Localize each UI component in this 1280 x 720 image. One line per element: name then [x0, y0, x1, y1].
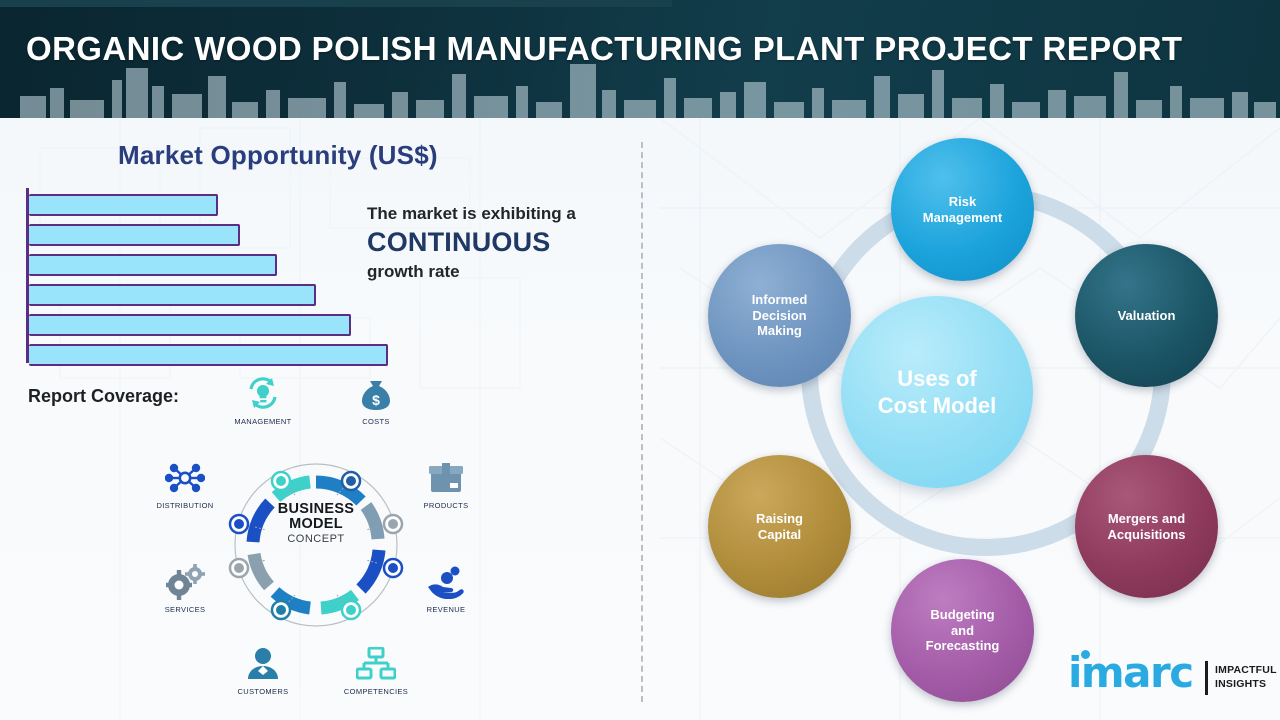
coverage-item-customers: CUSTOMERS: [217, 644, 309, 696]
logo-tagline-line-1: IMPACTFUL: [1215, 664, 1277, 678]
logo-tagline: IMPACTFUL INSIGHTS: [1215, 664, 1277, 691]
blurb-line-1: The market is exhibiting a: [367, 203, 637, 224]
logo-dot-icon: [1081, 650, 1090, 659]
center-bubble-uses-of-cost-model: Uses of Cost Model: [841, 296, 1033, 488]
coverage-label-distribution: DISTRIBUTION: [139, 501, 231, 510]
chart-bar: [29, 254, 277, 276]
bubble-budgeting-forecasting[interactable]: Budgeting and Forecasting: [891, 559, 1034, 702]
coverage-item-competencies: COMPETENCIES: [330, 644, 422, 696]
bubble-line-2: Decision: [752, 308, 808, 324]
user-person-icon: [217, 644, 309, 684]
coverage-label-costs: COSTS: [330, 417, 422, 426]
coverage-item-management: MANAGEMENT: [217, 374, 309, 426]
bm-core-line-2: MODEL: [250, 517, 382, 532]
coverage-label-competencies: COMPETENCIES: [330, 687, 422, 696]
market-blurb: The market is exhibiting a CONTINUOUS gr…: [367, 203, 637, 282]
bubble-line-1: Budgeting: [926, 607, 1000, 623]
blurb-line-3: growth rate: [367, 261, 637, 282]
coverage-label-customers: CUSTOMERS: [217, 687, 309, 696]
bubble-line-1: Mergers and: [1107, 511, 1185, 527]
coverage-label-management: MANAGEMENT: [217, 417, 309, 426]
bubble-line-3: Making: [752, 323, 808, 339]
bubble-line-2: Capital: [756, 527, 803, 543]
center-line-2: Cost Model: [878, 392, 997, 420]
bubble-valuation[interactable]: Valuation: [1075, 244, 1218, 387]
money-bag-icon: $: [330, 374, 422, 414]
coverage-label-revenue: REVENUE: [400, 605, 492, 614]
chart-bar: [29, 284, 316, 306]
cost-model-diagram: Uses of Cost Model Risk Management Valua…: [645, 118, 1280, 720]
org-chart-icon: [330, 644, 422, 684]
box-package-icon: [400, 458, 492, 498]
imarc-logo[interactable]: imarc IMPACTFUL INSIGHTS: [1068, 652, 1274, 708]
bubble-line-1: Valuation: [1118, 308, 1176, 324]
bubble-mergers-acquisitions[interactable]: Mergers and Acquisitions: [1075, 455, 1218, 598]
bubble-raising-capital[interactable]: Raising Capital: [708, 455, 851, 598]
coverage-label-services: SERVICES: [139, 605, 231, 614]
hand-coins-icon: [400, 562, 492, 602]
bm-core-line-1: BUSINESS: [250, 502, 382, 517]
bubble-line-2: Acquisitions: [1107, 527, 1185, 543]
lightbulb-refresh-icon: [217, 374, 309, 414]
logo-tagline-line-2: INSIGHTS: [1215, 678, 1277, 692]
coverage-item-services: SERVICES: [139, 562, 231, 614]
center-line-1: Uses of: [878, 365, 997, 393]
bm-core-line-3: CONCEPT: [250, 534, 382, 546]
coverage-label-products: PRODUCTS: [400, 501, 492, 510]
market-opportunity-title: Market Opportunity (US$): [118, 140, 438, 171]
chart-bar: [29, 344, 388, 366]
bubble-line-2: and: [926, 623, 1000, 639]
page-header: ORGANIC WOOD POLISH MANUFACTURING PLANT …: [0, 0, 1280, 118]
chart-bar: [29, 194, 218, 216]
chart-bar: [29, 314, 351, 336]
blurb-line-2: CONTINUOUS: [367, 224, 637, 260]
market-opportunity-chart: [26, 188, 406, 363]
bubble-line-3: Forecasting: [926, 638, 1000, 654]
header-notch-bar: [0, 0, 672, 7]
coverage-item-costs: $ COSTS: [330, 374, 422, 426]
bubble-line-1: Raising: [756, 511, 803, 527]
coverage-item-products: PRODUCTS: [400, 458, 492, 510]
panel-divider: [641, 142, 643, 702]
network-nodes-icon: [139, 458, 231, 498]
report-coverage-label: Report Coverage:: [28, 386, 179, 407]
business-model-core-label: BUSINESS MODEL CONCEPT: [250, 502, 382, 588]
chart-bar: [29, 224, 240, 246]
bubble-line-1: Risk: [923, 194, 1002, 210]
coverage-item-revenue: REVENUE: [400, 562, 492, 614]
logo-divider-bar: [1205, 661, 1208, 695]
bubble-line-2: Management: [923, 210, 1002, 226]
gears-icon: [139, 562, 231, 602]
bubble-line-1: Informed: [752, 292, 808, 308]
svg-text:$: $: [372, 392, 380, 408]
page-title: ORGANIC WOOD POLISH MANUFACTURING PLANT …: [26, 30, 1182, 68]
bubble-risk-management[interactable]: Risk Management: [891, 138, 1034, 281]
coverage-item-distribution: DISTRIBUTION: [139, 458, 231, 510]
bubble-informed-decision-making[interactable]: Informed Decision Making: [708, 244, 851, 387]
